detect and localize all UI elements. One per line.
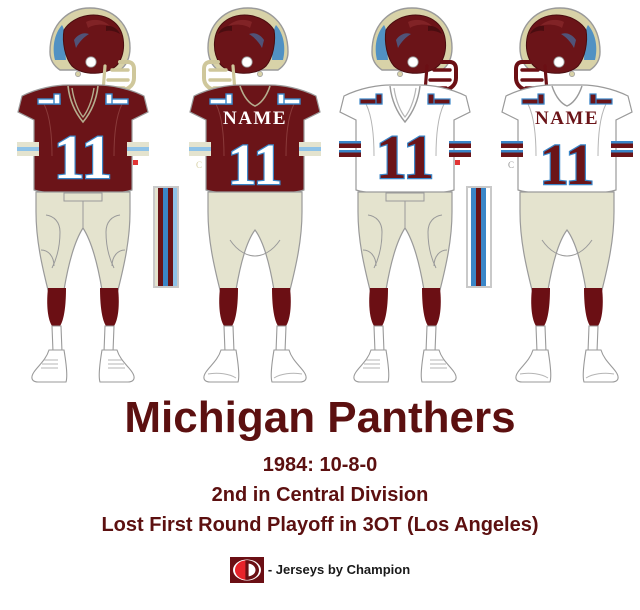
stripe-4 [173,188,177,286]
away-jersey-front: 11 [339,85,471,195]
helmet-back-right [204,8,288,92]
nameplate: NAME [223,108,287,129]
champion-logo [230,557,264,583]
home-jersey-front: 11 [17,85,149,195]
pants-back [208,192,302,290]
season-record: 1984: 10-8-0 [0,450,640,480]
jersey-number: 11 [54,124,113,192]
jersey-number: 11 [540,132,595,197]
uniform-home-back: NAME 11 C [180,0,330,395]
knee-pads [369,288,441,326]
jersey-number: 11 [376,124,435,192]
champion-tag: C [196,160,202,170]
socks-and-shoes [354,326,456,382]
uniform-away-back: NAME 11 C [492,0,640,395]
pants-front [36,192,130,290]
champion-tag: C [508,160,514,170]
sleeve-stripes-left [189,142,211,156]
sleeve-stripes-right [299,142,321,156]
nameplate: NAME [535,108,599,129]
socks-and-shoes [32,326,134,382]
socks-and-shoes [204,326,306,382]
pants-back [520,192,614,290]
division-standing: 2nd in Central Division [0,480,640,510]
stripe-4 [486,188,490,286]
uniform-row: 11 [0,0,640,395]
credit-text: - Jerseys by Champion [268,557,410,583]
team-info-block: Michigan Panthers 1984: 10-8-0 2nd in Ce… [0,392,640,540]
helmet-front-left [50,8,134,92]
home-jersey-back: NAME 11 C [189,85,321,197]
credit-line: - Jerseys by Champion [0,557,640,586]
knee-pads [531,288,603,326]
away-jersey-back: NAME 11 C [501,85,633,197]
sock-stripe-swatch-away [466,186,492,288]
jersey-number: 11 [228,132,283,197]
playoff-result: Lost First Round Playoff in 3OT (Los Ang… [0,510,640,540]
knee-pads [219,288,291,326]
socks-and-shoes [516,326,618,382]
uniform-home-front: 11 [8,0,158,395]
knee-pads [47,288,119,326]
sleeve-stripes-left [17,142,39,156]
helmet-back-right [516,8,600,92]
helmet-front-left [372,8,456,92]
sleeve-stripes-right [127,142,149,156]
pants-front [358,192,452,290]
page-title: Michigan Panthers [0,392,640,444]
sock-stripe-swatch-home [153,186,179,288]
uniform-away-front: 11 [330,0,480,395]
